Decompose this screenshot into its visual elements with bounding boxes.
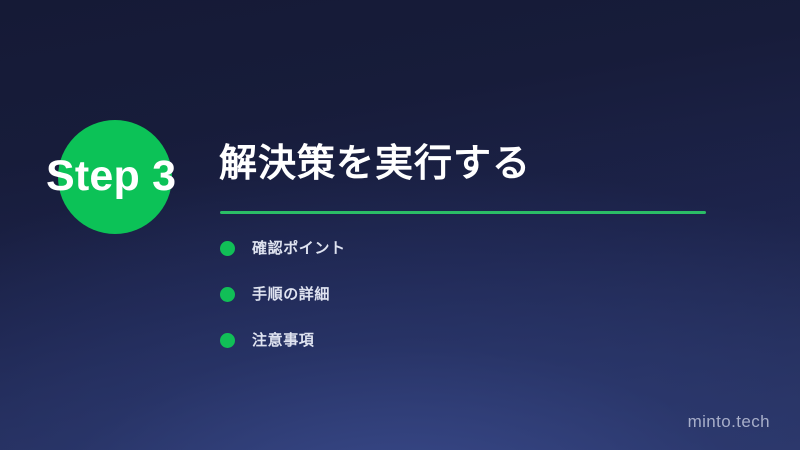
bullet-dot-icon: [220, 333, 235, 348]
title-block: 解決策を実行する: [219, 136, 719, 192]
footer-brand-label: minto.tech: [688, 412, 770, 432]
presentation-slide: Step 3 解決策を実行する 確認ポイント 手順の詳細 注意事項 minto.…: [0, 0, 800, 450]
bullet-list: 確認ポイント 手順の詳細 注意事項: [220, 240, 690, 378]
bullet-dot-icon: [220, 287, 235, 302]
bullet-dot-icon: [220, 241, 235, 256]
list-item-label: 注意事項: [252, 332, 314, 349]
list-item: 手順の詳細: [220, 286, 690, 303]
list-item-label: 確認ポイント: [252, 240, 346, 257]
list-item: 確認ポイント: [220, 240, 690, 257]
page-title: 解決策を実行する: [219, 136, 719, 192]
title-underline-rule: [220, 211, 706, 214]
list-item-label: 手順の詳細: [252, 286, 330, 303]
list-item: 注意事項: [220, 332, 690, 349]
